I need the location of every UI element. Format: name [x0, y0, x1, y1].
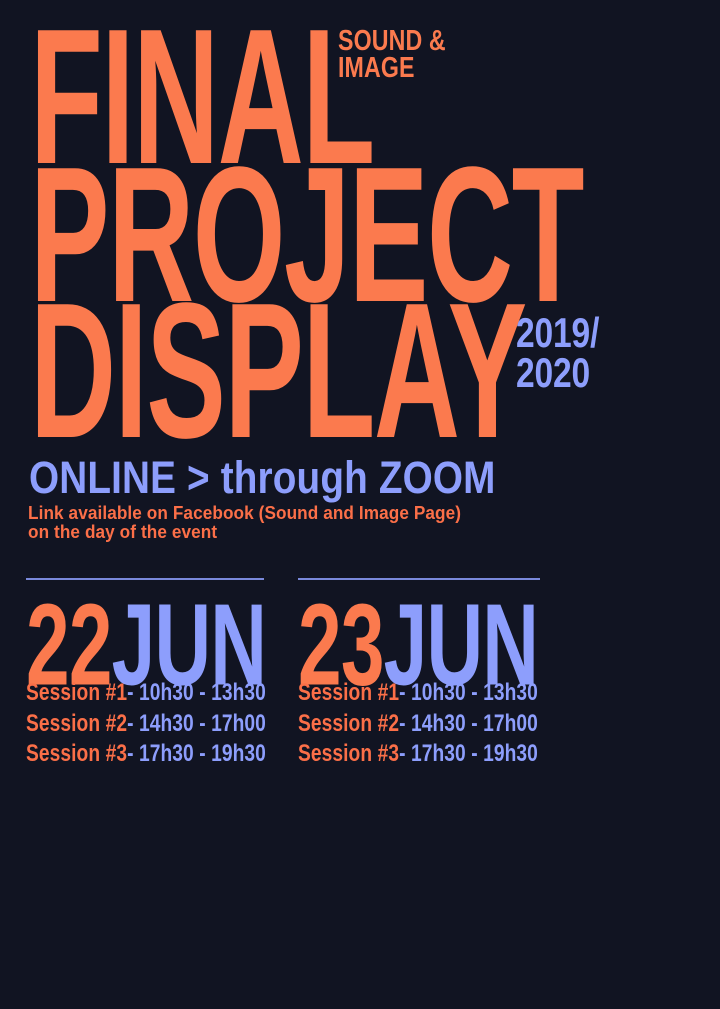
session-label: Session #1 [26, 679, 127, 706]
facebook-link-note: Link available on Facebook (Sound and Im… [28, 504, 461, 543]
session-row: Session #3- 17h30 - 19h30 [26, 739, 218, 769]
date-column-22-jun: 22JUN Session #1- 10h30 - 13h30 Session … [26, 578, 266, 769]
session-label: Session #1 [298, 679, 399, 706]
session-time: - 17h30 - 19h30 [399, 740, 538, 767]
poster-canvas: FINAL PROJECT DISPLAY SOUND & IMAGE 2019… [0, 0, 720, 1009]
session-label: Session #3 [298, 740, 399, 767]
headline-line-display: DISPLAY [30, 296, 462, 446]
session-time: - 14h30 - 17h00 [399, 710, 538, 737]
session-label: Session #3 [26, 740, 127, 767]
academic-year-badge: 2019/ 2020 [516, 313, 599, 393]
session-row: Session #1- 10h30 - 13h30 [298, 678, 494, 708]
session-label: Session #2 [26, 710, 127, 737]
session-time: - 17h30 - 19h30 [127, 740, 266, 767]
session-row: Session #2- 14h30 - 17h00 [298, 709, 494, 739]
session-row: Session #2- 14h30 - 17h00 [26, 709, 218, 739]
session-time: - 10h30 - 13h30 [127, 679, 266, 706]
session-time: - 10h30 - 13h30 [399, 679, 538, 706]
session-list: Session #1- 10h30 - 13h30 Session #2- 14… [298, 678, 543, 769]
session-list: Session #1- 10h30 - 13h30 Session #2- 14… [26, 678, 266, 769]
session-time: - 14h30 - 17h00 [127, 710, 266, 737]
session-row: Session #1- 10h30 - 13h30 [26, 678, 218, 708]
dates-section: 22JUN Session #1- 10h30 - 13h30 Session … [0, 578, 720, 818]
kicker-sound-and-image: SOUND & IMAGE [338, 28, 446, 82]
online-zoom-line: ONLINE > through ZOOM [29, 455, 496, 500]
date-column-23-jun: 23JUN Session #1- 10h30 - 13h30 Session … [298, 578, 543, 769]
session-label: Session #2 [298, 710, 399, 737]
session-row: Session #3- 17h30 - 19h30 [298, 739, 494, 769]
